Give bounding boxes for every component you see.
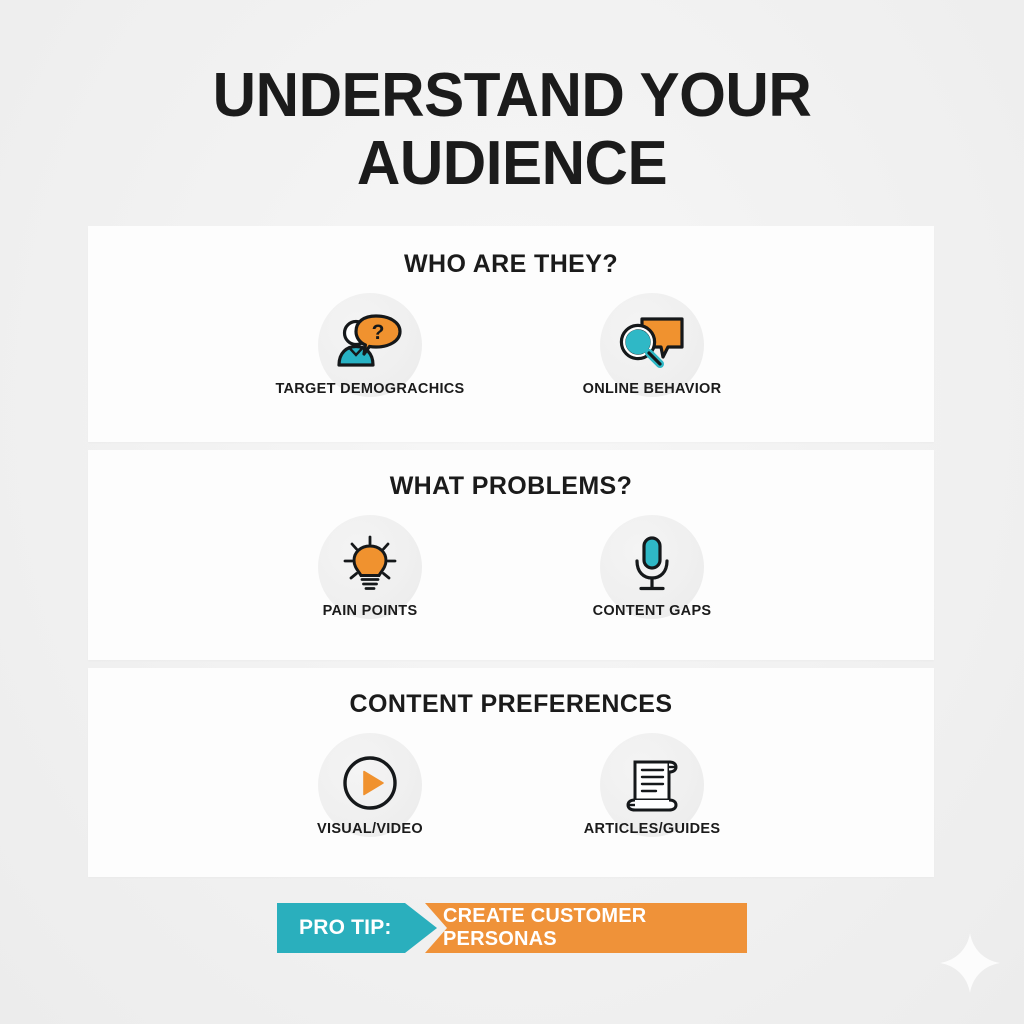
item-label: VISUAL/VIDEO bbox=[275, 821, 465, 837]
item-content-gaps[interactable]: CONTENT GAPS bbox=[557, 515, 747, 619]
infographic-poster: UNDERSTAND YOUR AUDIENCE WHO ARE THEY? ? bbox=[0, 0, 1024, 1024]
item-label: CONTENT GAPS bbox=[557, 603, 747, 619]
magnifier-speech-bubble-icon bbox=[616, 314, 688, 377]
page-title: UNDERSTAND YOUR AUDIENCE bbox=[0, 62, 1024, 198]
item-articles-guides[interactable]: ARTICLES/GUIDES bbox=[557, 733, 747, 837]
section-heading: CONTENT PREFERENCES bbox=[88, 668, 934, 719]
item-label: TARGET DEMOGRACHICS bbox=[275, 381, 465, 397]
pro-tip-message-label: CREATE CUSTOMER PERSONAS bbox=[425, 905, 747, 951]
icon-row: PAIN POINTS CONTENT GAPS bbox=[88, 515, 934, 619]
pro-tip-message: CREATE CUSTOMER PERSONAS bbox=[425, 903, 747, 953]
pro-tip-tag: PRO TIP: bbox=[277, 903, 437, 953]
svg-text:?: ? bbox=[372, 321, 385, 344]
title-line-2: AUDIENCE bbox=[15, 130, 1008, 198]
item-label: ARTICLES/GUIDES bbox=[557, 821, 747, 837]
four-point-sparkle-icon bbox=[938, 931, 1002, 995]
section-heading: WHAT PROBLEMS? bbox=[88, 450, 934, 501]
section-card-what-problems: WHAT PROBLEMS? bbox=[88, 450, 934, 660]
item-label: ONLINE BEHAVIOR bbox=[557, 381, 747, 397]
pro-tip-tag-label: PRO TIP: bbox=[277, 916, 392, 940]
icon-row: ? TARGET DEMOGRACHICS bbox=[88, 293, 934, 397]
play-button-icon bbox=[341, 754, 399, 817]
item-target-demographics[interactable]: ? TARGET DEMOGRACHICS bbox=[275, 293, 465, 397]
item-pain-points[interactable]: PAIN POINTS bbox=[275, 515, 465, 619]
microphone-icon bbox=[628, 534, 676, 601]
title-line-1: UNDERSTAND YOUR bbox=[15, 62, 1008, 130]
item-label: PAIN POINTS bbox=[275, 603, 465, 619]
person-question-bubble-icon: ? bbox=[334, 313, 406, 378]
icon-row: VISUAL/VIDEO bbox=[88, 733, 934, 837]
item-visual-video[interactable]: VISUAL/VIDEO bbox=[275, 733, 465, 837]
section-card-who-are-they: WHO ARE THEY? ? TARGET DEMOGRACHICS bbox=[88, 226, 934, 442]
scroll-document-icon bbox=[622, 753, 682, 818]
section-heading: WHO ARE THEY? bbox=[88, 226, 934, 279]
section-card-content-preferences: CONTENT PREFERENCES VISUAL/VIDEO bbox=[88, 668, 934, 877]
lightbulb-icon bbox=[339, 534, 401, 601]
item-online-behavior[interactable]: ONLINE BEHAVIOR bbox=[557, 293, 747, 397]
pro-tip-banner[interactable]: PRO TIP: CREATE CUSTOMER PERSONAS bbox=[277, 903, 747, 953]
